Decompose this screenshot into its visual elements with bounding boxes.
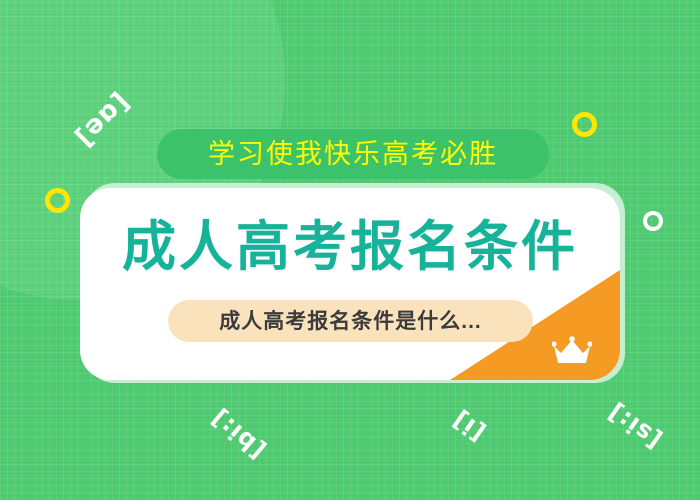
poster-canvas: [ɑe] [bi:] [i] [si:] 学习使我快乐高考必胜 成人高考报名条件… (0, 0, 700, 500)
subtitle-pill: 成人高考报名条件是什么... (168, 300, 533, 342)
phonetic-i: [i] (447, 405, 490, 447)
main-card: 成人高考报名条件 成人高考报名条件是什么... (80, 188, 620, 380)
page-title: 成人高考报名条件 (80, 220, 620, 274)
ring-yellow-top-icon (572, 112, 597, 137)
ring-yellow-left-icon (45, 188, 70, 213)
ring-white-right-icon (643, 211, 663, 231)
phonetic-si: [si:] (602, 398, 666, 455)
banner-text: 学习使我快乐高考必胜 (208, 141, 498, 168)
top-banner: 学习使我快乐高考必胜 (157, 129, 549, 179)
crown-icon (552, 336, 592, 366)
phonetic-bi: [bi:] (205, 403, 270, 464)
subtitle-text: 成人高考报名条件是什么... (219, 311, 482, 332)
